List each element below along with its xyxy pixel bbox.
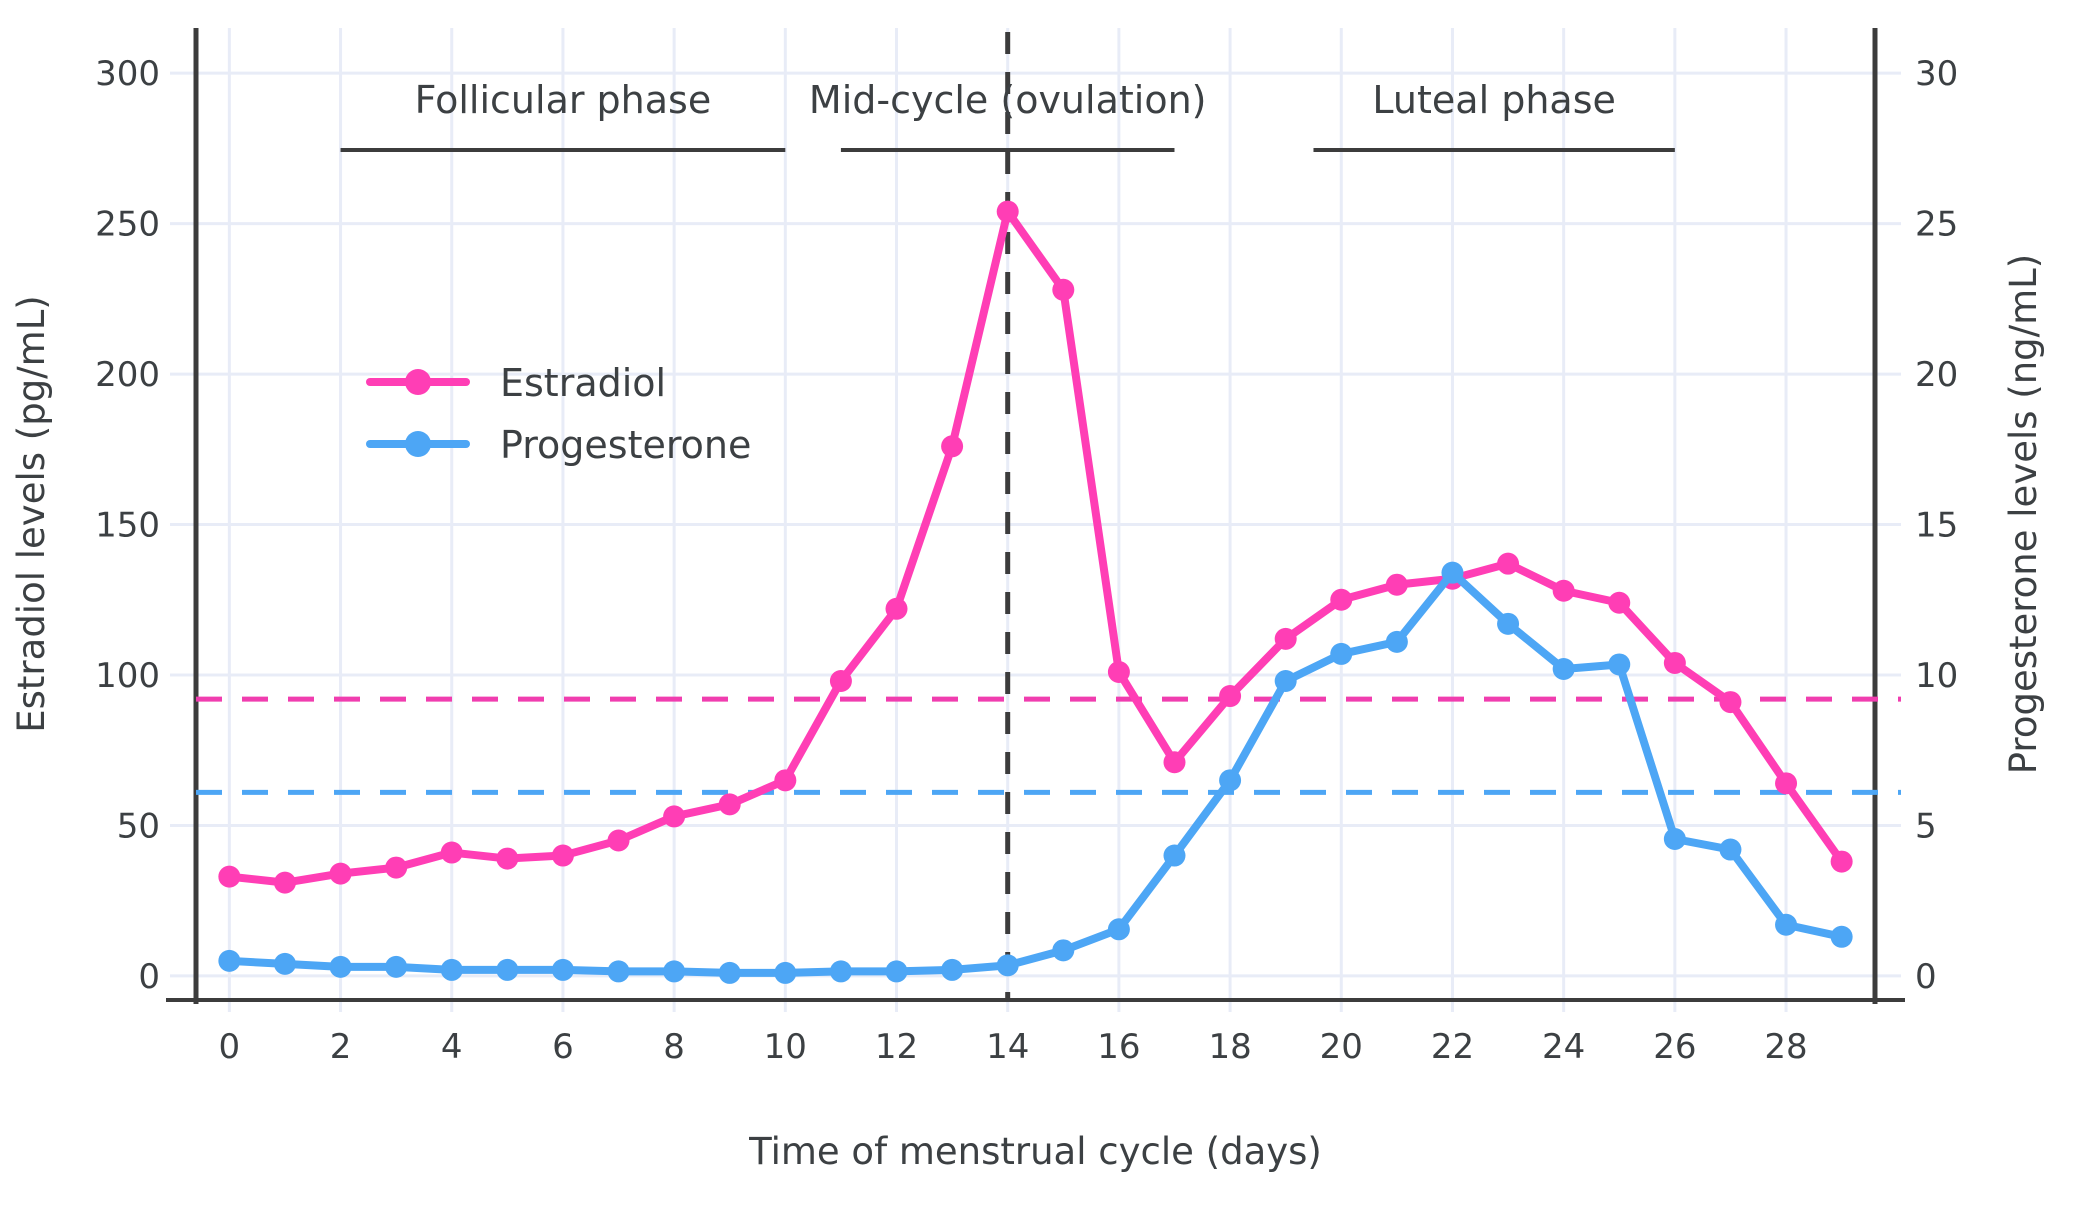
x-tick-label-10: 10 <box>764 1027 807 1067</box>
x-tick-label-28: 28 <box>1764 1027 1807 1067</box>
x-tick-label-8: 8 <box>663 1027 685 1067</box>
y-tick-label-right-15: 15 <box>1915 506 1958 546</box>
x-tick-label-24: 24 <box>1542 1027 1585 1067</box>
data-point-estradiol-day-5[interactable] <box>496 848 518 870</box>
data-point-estradiol-day-16[interactable] <box>1108 661 1130 683</box>
data-point-estradiol-day-0[interactable] <box>218 866 240 888</box>
data-point-estradiol-day-2[interactable] <box>330 863 352 885</box>
data-point-estradiol-day-20[interactable] <box>1330 589 1352 611</box>
data-point-progesterone-day-9[interactable] <box>719 962 741 984</box>
x-tick-label-26: 26 <box>1653 1027 1696 1067</box>
data-point-progesterone-day-28[interactable] <box>1775 914 1797 936</box>
data-point-estradiol-day-29[interactable] <box>1831 851 1853 873</box>
phase-label-mid-cycle-ovulation: Mid-cycle (ovulation) <box>809 78 1207 122</box>
data-point-estradiol-day-23[interactable] <box>1497 553 1519 575</box>
data-point-progesterone-day-5[interactable] <box>496 959 518 981</box>
data-point-estradiol-day-21[interactable] <box>1386 574 1408 596</box>
data-point-progesterone-day-6[interactable] <box>552 959 574 981</box>
y-tick-label-right-0: 0 <box>1915 957 1937 997</box>
y-tick-label-right-20: 20 <box>1915 355 1958 395</box>
x-tick-label-14: 14 <box>986 1027 1029 1067</box>
y-tick-label-left-100: 100 <box>95 656 160 696</box>
data-point-progesterone-day-10[interactable] <box>774 962 796 984</box>
data-point-progesterone-day-4[interactable] <box>441 959 463 981</box>
data-point-progesterone-day-24[interactable] <box>1553 658 1575 680</box>
data-point-estradiol-day-15[interactable] <box>1052 279 1074 301</box>
data-point-estradiol-day-26[interactable] <box>1664 652 1686 674</box>
data-point-progesterone-day-25[interactable] <box>1608 653 1630 675</box>
data-point-estradiol-day-3[interactable] <box>385 857 407 879</box>
data-point-progesterone-day-12[interactable] <box>886 960 908 982</box>
data-point-estradiol-day-9[interactable] <box>719 793 741 815</box>
data-point-progesterone-day-11[interactable] <box>830 960 852 982</box>
data-point-progesterone-day-3[interactable] <box>385 956 407 978</box>
y-tick-label-right-30: 30 <box>1915 54 1958 94</box>
data-point-estradiol-day-4[interactable] <box>441 842 463 864</box>
y-tick-label-right-25: 25 <box>1915 205 1958 245</box>
x-tick-label-18: 18 <box>1208 1027 1251 1067</box>
data-point-progesterone-day-20[interactable] <box>1330 643 1352 665</box>
data-point-progesterone-day-14[interactable] <box>997 954 1019 976</box>
data-point-estradiol-day-1[interactable] <box>274 872 296 894</box>
chart-container: 050100150200250300 051015202530 02468101… <box>0 0 2077 1208</box>
data-point-progesterone-day-0[interactable] <box>218 950 240 972</box>
y-tick-label-left-200: 200 <box>95 355 160 395</box>
menstrual-cycle-hormone-chart: 050100150200250300 051015202530 02468101… <box>0 0 2077 1208</box>
x-tick-label-12: 12 <box>875 1027 918 1067</box>
x-tick-label-2: 2 <box>330 1027 352 1067</box>
data-point-estradiol-day-27[interactable] <box>1719 691 1741 713</box>
data-point-progesterone-day-13[interactable] <box>941 959 963 981</box>
data-point-progesterone-day-23[interactable] <box>1497 613 1519 635</box>
x-tick-label-6: 6 <box>552 1027 574 1067</box>
data-point-estradiol-day-17[interactable] <box>1163 751 1185 773</box>
data-point-estradiol-day-13[interactable] <box>941 435 963 457</box>
data-point-estradiol-day-19[interactable] <box>1275 628 1297 650</box>
x-tick-label-16: 16 <box>1097 1027 1140 1067</box>
data-point-progesterone-day-21[interactable] <box>1386 631 1408 653</box>
phase-label-follicular-phase: Follicular phase <box>415 78 712 122</box>
data-point-progesterone-day-27[interactable] <box>1719 839 1741 861</box>
legend-label-estradiol[interactable]: Estradiol <box>500 361 666 405</box>
data-point-estradiol-day-14[interactable] <box>997 201 1019 223</box>
y-tick-label-left-0: 0 <box>138 957 160 997</box>
data-point-progesterone-day-19[interactable] <box>1275 670 1297 692</box>
data-point-progesterone-day-29[interactable] <box>1831 926 1853 948</box>
data-point-progesterone-day-15[interactable] <box>1052 939 1074 961</box>
data-point-progesterone-day-1[interactable] <box>274 953 296 975</box>
y-tick-label-right-10: 10 <box>1915 656 1958 696</box>
x-tick-label-4: 4 <box>441 1027 463 1067</box>
data-point-estradiol-day-18[interactable] <box>1219 685 1241 707</box>
y-tick-label-left-250: 250 <box>95 205 160 245</box>
data-point-progesterone-day-8[interactable] <box>663 960 685 982</box>
x-tick-label-20: 20 <box>1320 1027 1363 1067</box>
y-tick-label-left-50: 50 <box>117 806 160 846</box>
data-point-progesterone-day-2[interactable] <box>330 956 352 978</box>
data-point-estradiol-day-8[interactable] <box>663 805 685 827</box>
legend-marker-estradiol <box>405 369 431 395</box>
y-axis-left-title: Estradiol levels (pg/mL) <box>10 295 53 732</box>
data-point-progesterone-day-22[interactable] <box>1441 562 1463 584</box>
data-point-progesterone-day-17[interactable] <box>1163 845 1185 867</box>
data-point-progesterone-day-26[interactable] <box>1664 828 1686 850</box>
data-point-estradiol-day-10[interactable] <box>774 769 796 791</box>
data-point-progesterone-day-7[interactable] <box>608 960 630 982</box>
data-point-progesterone-day-18[interactable] <box>1219 769 1241 791</box>
phase-label-luteal-phase: Luteal phase <box>1372 78 1615 122</box>
data-point-estradiol-day-11[interactable] <box>830 670 852 692</box>
y-tick-label-left-150: 150 <box>95 506 160 546</box>
data-point-progesterone-day-16[interactable] <box>1108 918 1130 940</box>
x-tick-label-22: 22 <box>1431 1027 1474 1067</box>
data-point-estradiol-day-25[interactable] <box>1608 592 1630 614</box>
data-point-estradiol-day-24[interactable] <box>1553 580 1575 602</box>
x-tick-label-0: 0 <box>219 1027 241 1067</box>
legend-marker-progesterone <box>405 431 431 457</box>
legend-label-progesterone[interactable]: Progesterone <box>500 423 751 467</box>
data-point-estradiol-day-12[interactable] <box>886 598 908 620</box>
y-tick-label-left-300: 300 <box>95 54 160 94</box>
data-point-estradiol-day-7[interactable] <box>608 830 630 852</box>
y-tick-label-right-5: 5 <box>1915 806 1937 846</box>
x-axis-title: Time of menstrual cycle (days) <box>748 1130 1322 1173</box>
y-axis-right-title: Progesterone levels (ng/mL) <box>2002 254 2045 774</box>
data-point-estradiol-day-6[interactable] <box>552 845 574 867</box>
data-point-estradiol-day-28[interactable] <box>1775 772 1797 794</box>
